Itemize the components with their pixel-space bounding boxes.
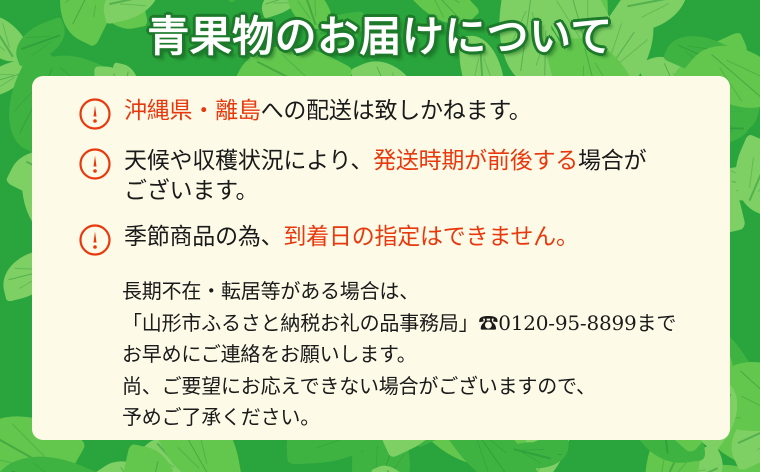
- title-bar: 青果物のお届けについて: [0, 0, 760, 74]
- notice-1-seg-1: への配送は致しかねます。: [261, 98, 532, 124]
- notice-item-3: 季節商品の為、到着日の指定はできません。: [78, 222, 714, 257]
- notice-item-2: 天候や収穫状況により、発送時期が前後する場合がございます。: [78, 146, 714, 207]
- notice-list: 沖縄県・離島への配送は致しかねます。 天候や収穫状況により、発送時期が前後する場…: [78, 96, 714, 257]
- exclamation-circle-icon: [78, 147, 112, 181]
- notice-card: 沖縄県・離島への配送は致しかねます。 天候や収穫状況により、発送時期が前後する場…: [32, 76, 730, 440]
- footer-line-4: 尚、ご要望にお応えできない場合がございますので、: [122, 371, 722, 403]
- exclamation-circle-icon: [78, 223, 112, 257]
- notice-item-3-text: 季節商品の為、到着日の指定はできません。: [124, 222, 579, 252]
- page-title: 青果物のお届けについて: [147, 16, 612, 58]
- footer-note: 長期不在・転居等がある場合は、 「山形市ふるさと納税お礼の品事務局」☎0120-…: [122, 276, 722, 434]
- notice-2-seg-1: 発送時期が前後する: [373, 148, 578, 174]
- footer-line-1: 長期不在・転居等がある場合は、: [122, 276, 722, 308]
- notice-3-seg-1: 到着日の指定はできません。: [283, 224, 578, 250]
- notice-1-seg-0: 沖縄県・離島: [124, 98, 261, 124]
- notice-banner: 青果物のお届けについて 沖縄県・離島への配送は致しかねます。: [0, 0, 760, 472]
- notice-item-1: 沖縄県・離島への配送は致しかねます。: [78, 96, 714, 131]
- notice-item-1-text: 沖縄県・離島への配送は致しかねます。: [124, 96, 532, 126]
- footer-line-3: お早めにご連絡をお願いします。: [122, 339, 722, 371]
- notice-2-seg-0: 天候や収穫状況により、: [124, 148, 373, 174]
- footer-line-2: 「山形市ふるさと納税お礼の品事務局」☎0120-95-8899まで: [122, 308, 722, 340]
- notice-2-seg-2: 場合が: [578, 148, 646, 174]
- exclamation-circle-icon: [78, 97, 112, 131]
- notice-3-seg-0: 季節商品の為、: [124, 224, 283, 250]
- footer-line-5: 予めご了承ください。: [122, 402, 722, 434]
- notice-2-seg-3: ございます。: [124, 178, 258, 204]
- notice-item-2-text: 天候や収穫状況により、発送時期が前後する場合がございます。: [124, 146, 646, 207]
